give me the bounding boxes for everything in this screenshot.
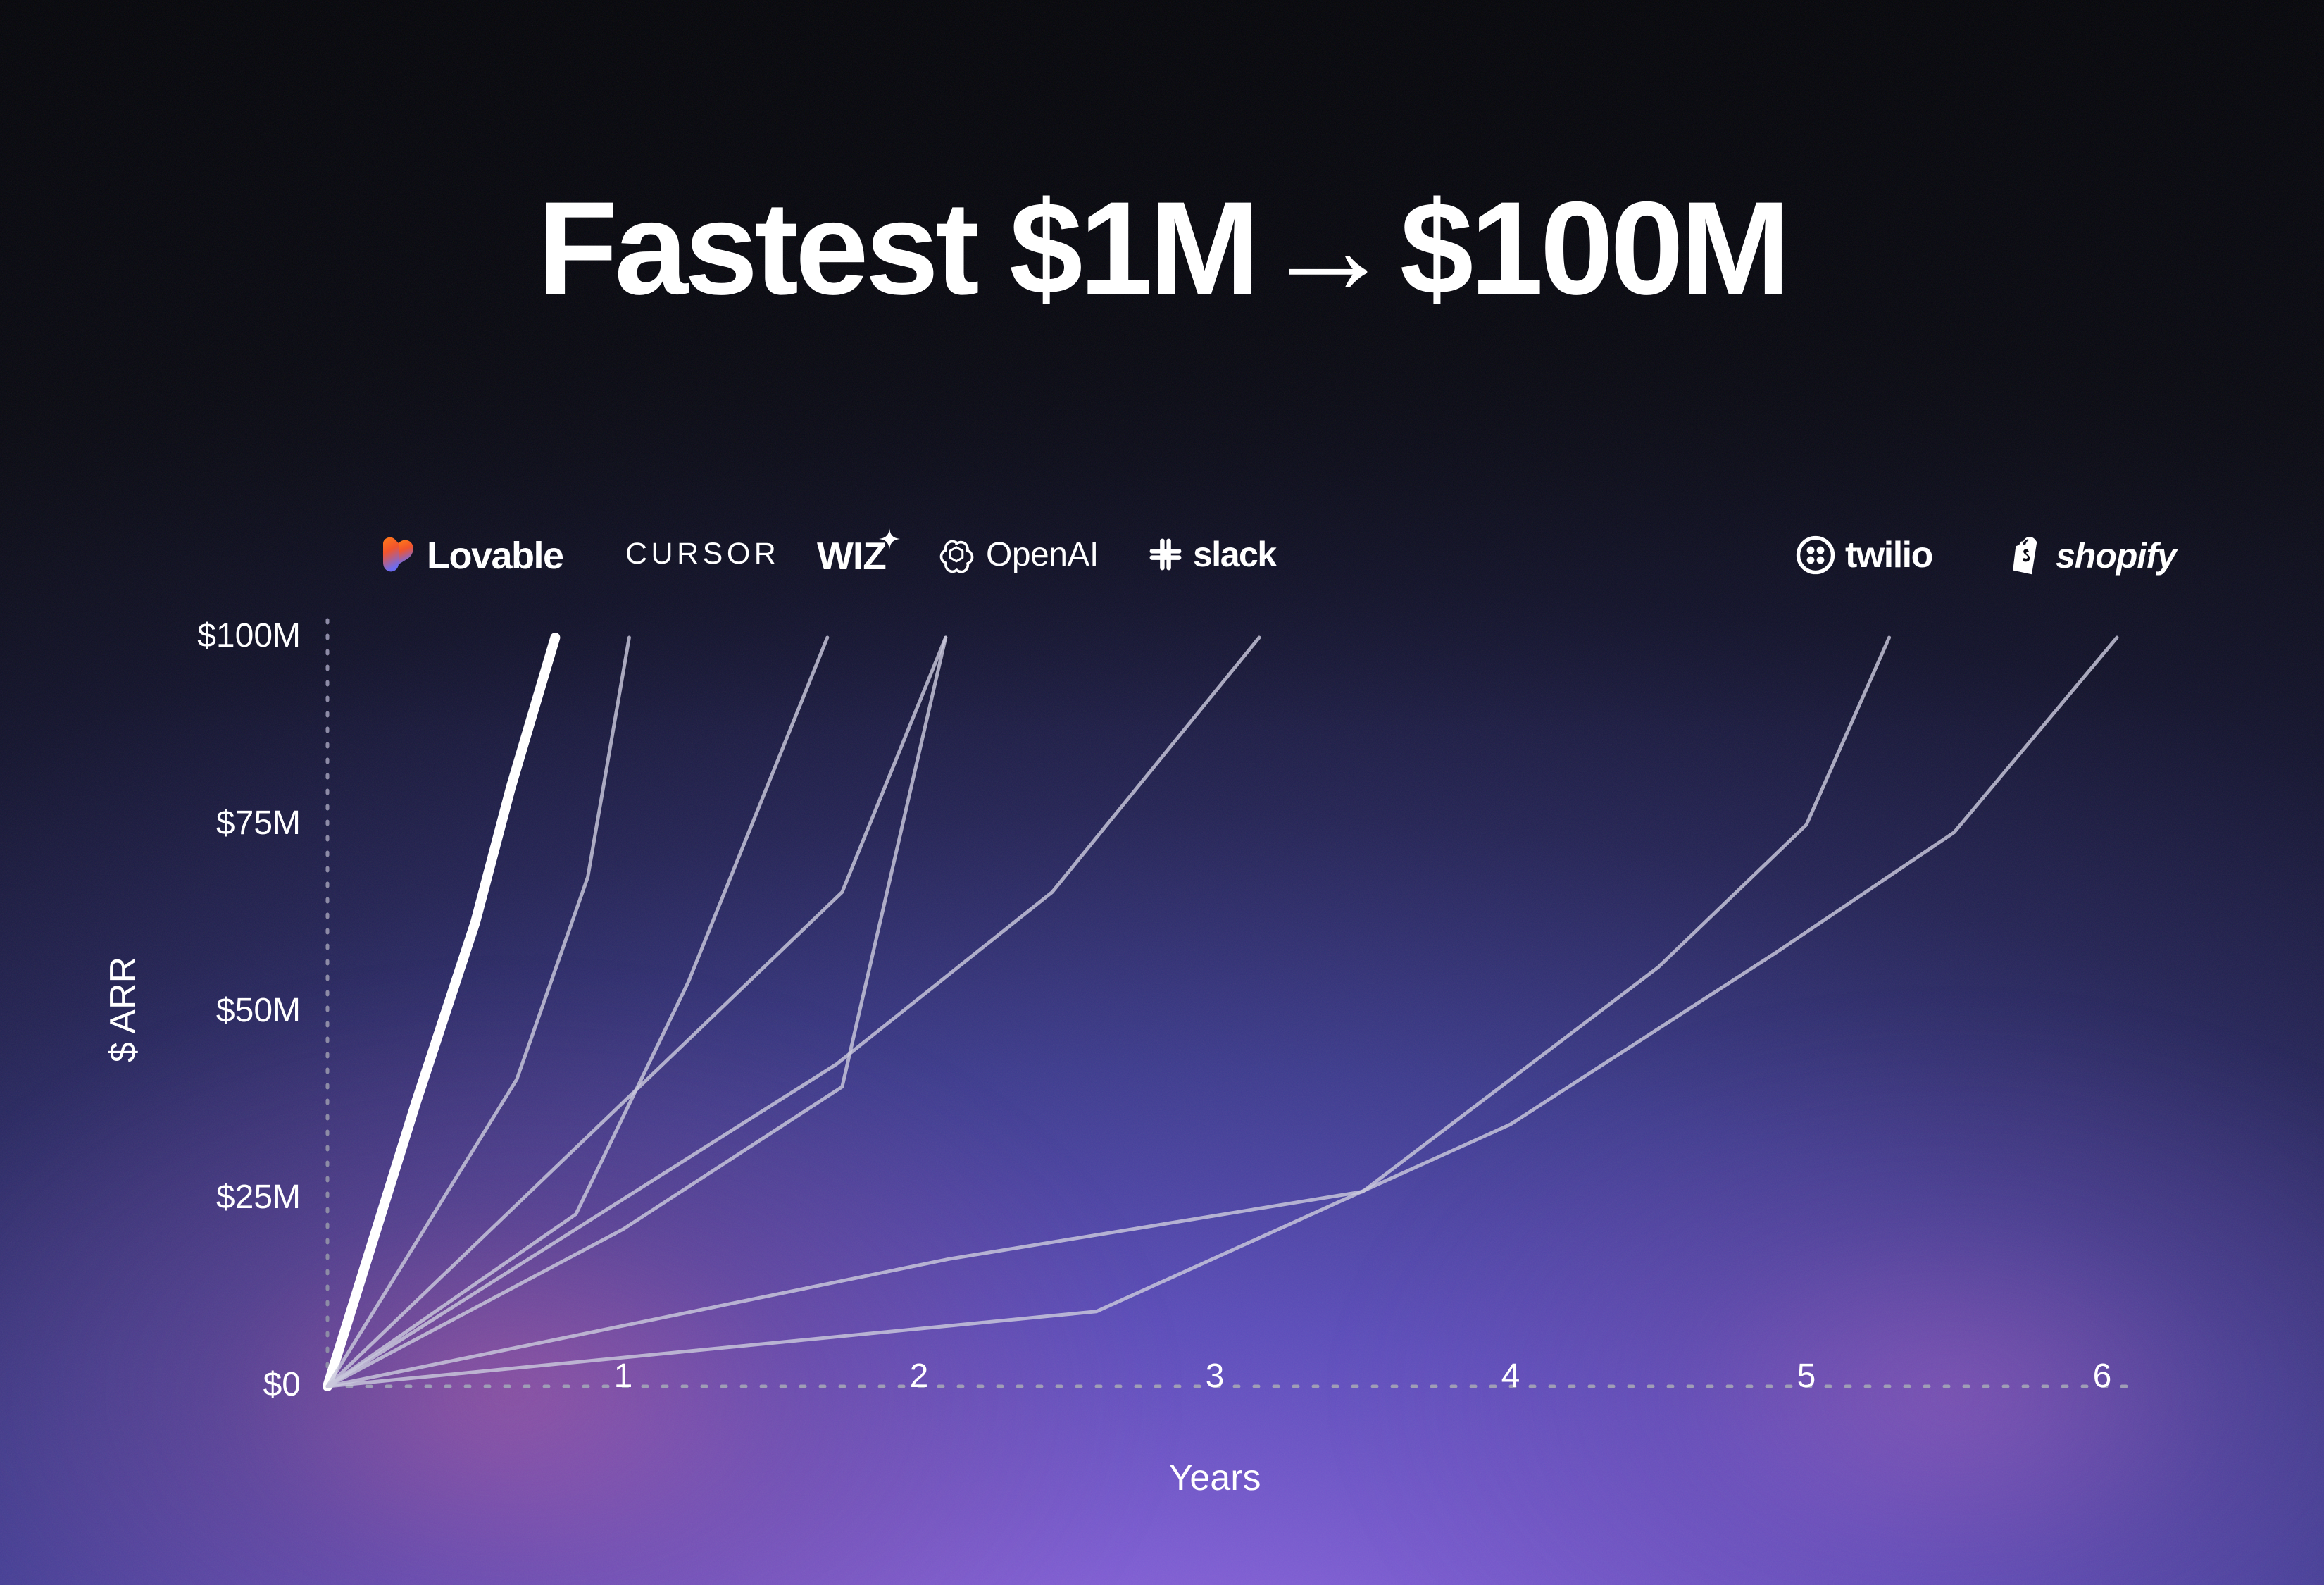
series-line-slack <box>327 638 1259 1386</box>
legend-item-cursor[interactable]: CURSOR <box>625 539 780 569</box>
x-axis-title: Years <box>327 1457 2102 1499</box>
twilio-dots-icon <box>1796 535 1835 575</box>
lovable-heart-icon <box>380 535 417 576</box>
legend-item-wiz[interactable]: WIZ <box>817 537 886 576</box>
legend-item-slack[interactable]: slack <box>1148 537 1276 572</box>
series-line-twilio <box>327 638 1889 1386</box>
shopify-bag-icon <box>2011 535 2046 576</box>
wiz-star-icon <box>879 528 900 549</box>
chart-canvas: Fastest $1M→$100M $0 $25M $50M $75M $100… <box>0 0 2324 1585</box>
y-tick-label-50m: $50M <box>216 991 301 1030</box>
y-axis-title: $ ARR <box>102 956 144 1062</box>
series-line-lovable <box>327 638 555 1386</box>
legend-item-shopify[interactable]: shopify <box>2011 535 2176 576</box>
series-lines-group <box>327 638 2117 1386</box>
x-tick-label-2: 2 <box>877 1357 961 1396</box>
legend-label-twilio: twilio <box>1845 537 1932 573</box>
legend-label-slack: slack <box>1193 537 1276 572</box>
legend-label-shopify: shopify <box>2056 538 2176 573</box>
legend-label-openai: OpenAI <box>986 538 1099 572</box>
x-tick-label-5: 5 <box>1764 1357 1849 1396</box>
chart-plot-area <box>0 0 2324 1585</box>
series-line-unlabeled-a <box>327 638 946 1386</box>
series-line-cursor <box>327 638 629 1386</box>
x-tick-label-4: 4 <box>1468 1357 1553 1396</box>
y-tick-label-100m: $100M <box>197 616 301 655</box>
series-line-openai <box>327 638 946 1386</box>
legend-label-wiz: WIZ <box>817 534 886 578</box>
x-tick-label-3: 3 <box>1173 1357 1257 1396</box>
legend-item-twilio[interactable]: twilio <box>1796 535 1932 575</box>
slack-hash-icon <box>1148 537 1183 572</box>
legend-item-openai[interactable]: OpenAI <box>937 535 1099 575</box>
y-tick-label-0: $0 <box>263 1365 301 1404</box>
legend-label-lovable: Lovable <box>427 537 563 575</box>
y-tick-label-25m: $25M <box>216 1178 301 1217</box>
series-line-shopify <box>327 638 2117 1386</box>
openai-knot-icon <box>937 535 976 575</box>
series-line-wiz <box>327 638 827 1386</box>
legend-label-cursor: CURSOR <box>625 539 780 569</box>
legend-item-lovable[interactable]: Lovable <box>380 535 563 576</box>
y-tick-label-75m: $75M <box>216 804 301 843</box>
x-tick-label-6: 6 <box>2060 1357 2144 1396</box>
x-tick-label-1: 1 <box>581 1357 666 1396</box>
